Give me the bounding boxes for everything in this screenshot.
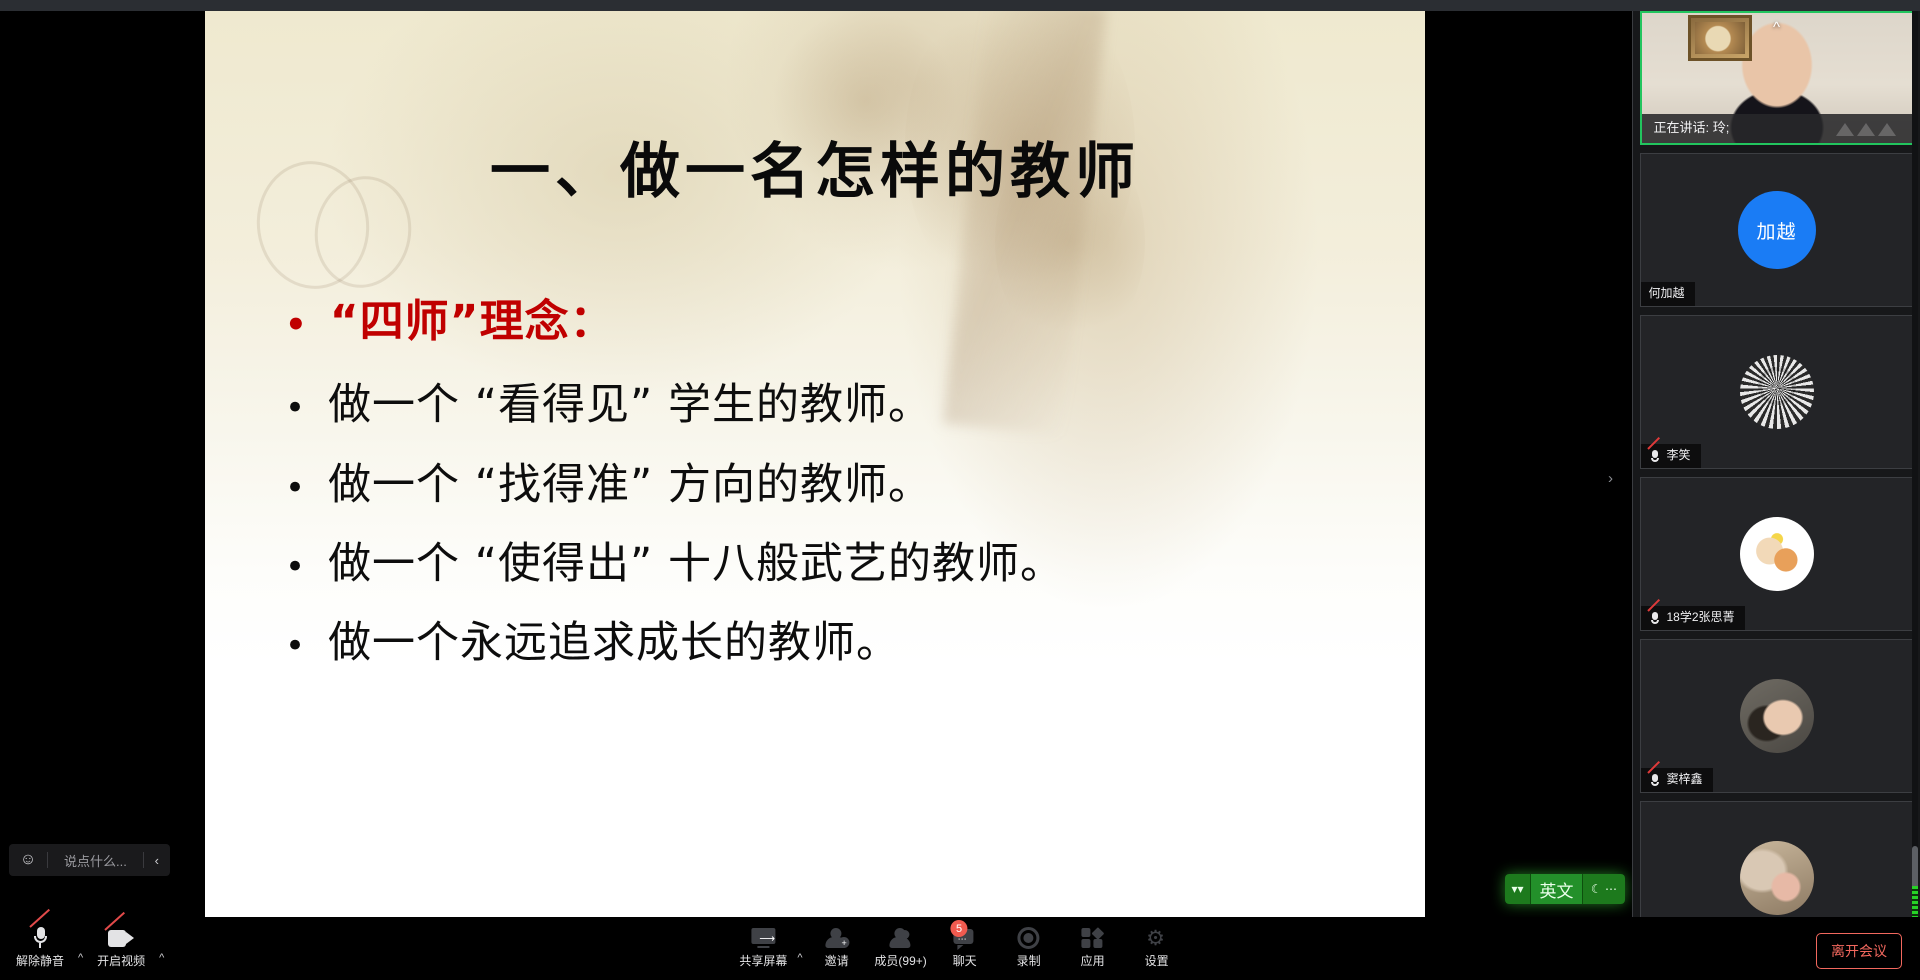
window-top-bar <box>0 0 1920 11</box>
audio-options-chevron-icon[interactable]: ^ <box>76 952 85 970</box>
chat-button[interactable]: ⋯ 5 聊天 <box>933 925 997 970</box>
invite-icon: + <box>826 925 848 951</box>
slide-bullet: • 做一个永远追求成长的教师。 <box>225 613 1405 674</box>
video-options-chevron-icon[interactable]: ^ <box>157 952 166 970</box>
avatar <box>1740 355 1814 429</box>
invite-label: 邀请 <box>825 955 849 968</box>
meeting-window: 锁定画面 一、做一名怎样的教师 • “四师”理念： • 做一个 “看得见” 学生… <box>0 0 1920 980</box>
meeting-toolbar: 解除静音 ^ 开启视频 ^ ⟶ 共享屏幕 ^ + <box>0 917 1920 980</box>
settings-gear-icon: ⚙ <box>1146 925 1167 951</box>
presentation-slide: 一、做一名怎样的教师 • “四师”理念： • 做一个 “看得见” 学生的教师。 … <box>205 11 1425 917</box>
slide-bullet-text: 做一个 “找得准” 方向的教师。 <box>328 455 932 516</box>
invite-button[interactable]: + 邀请 <box>805 925 869 970</box>
bullet-marker: • <box>285 629 306 663</box>
smiley-icon[interactable]: ☺ <box>9 844 47 876</box>
record-button[interactable]: 录制 <box>997 925 1061 970</box>
participants-button[interactable]: 成员(99+) <box>869 925 933 970</box>
share-options-chevron-icon[interactable]: ^ <box>795 952 804 970</box>
share-screen-icon: ⟶ <box>751 925 775 951</box>
participant-tile[interactable]: 加越 何加越 <box>1640 153 1914 307</box>
participants-panel[interactable]: ^ 正在讲话: 玲; 加越 何加越 李笑 18学2张思菁 <box>1632 11 1920 917</box>
slide-bullet: • 做一个 “使得出” 十八般武艺的教师。 <box>225 534 1405 595</box>
participant-name-badge: 何加越 <box>1641 282 1695 306</box>
slide-bullet-list: • “四师”理念： • 做一个 “看得见” 学生的教师。 • 做一个 “找得准”… <box>225 291 1405 692</box>
avatar <box>1740 679 1814 753</box>
share-screen-label: 共享屏幕 <box>739 955 787 968</box>
apps-icon <box>1082 925 1104 951</box>
video-toggle-button[interactable]: 开启视频 <box>89 925 153 970</box>
audio-wave-icon <box>1836 123 1896 136</box>
chevron-up-icon[interactable]: ^ <box>1773 19 1780 36</box>
stage-chat-input-bar[interactable]: ☺ 说点什么... ‹ <box>9 844 170 876</box>
settings-label: 设置 <box>1145 955 1169 968</box>
leave-meeting-button[interactable]: 离开会议 <box>1816 933 1902 969</box>
slide-bullet: • 做一个 “找得准” 方向的教师。 <box>225 455 1405 516</box>
chevron-right-icon[interactable]: › <box>1608 470 1613 487</box>
share-screen-button[interactable]: ⟶ 共享屏幕 <box>731 925 795 970</box>
participant-name: 18学2张思菁 <box>1667 610 1735 626</box>
slide-bullet-text: 做一个 “使得出” 十八般武艺的教师。 <box>328 534 1064 595</box>
slide-title: 一、做一名怎样的教师 <box>205 123 1425 210</box>
chat-input-placeholder[interactable]: 说点什么... <box>48 844 143 876</box>
bullet-marker: • <box>285 308 308 342</box>
double-chevron-down-icon[interactable]: ▾▾ <box>1505 874 1531 904</box>
panel-scrollbar-track[interactable] <box>1912 11 1918 917</box>
chevron-left-icon[interactable]: ‹ <box>144 844 170 876</box>
caption-language-widget[interactable]: ▾▾ 英文 ☾ ⋯ <box>1505 874 1625 904</box>
participant-name: 李笑 <box>1667 448 1691 464</box>
settings-button[interactable]: ⚙ 设置 <box>1125 925 1189 970</box>
participant-tile[interactable]: 李笑 <box>1640 315 1914 469</box>
participant-name-badge: 正在讲话: 玲; <box>1642 114 1912 143</box>
background-picture-frame <box>1688 15 1752 61</box>
mic-off-icon <box>33 925 48 951</box>
participant-tile[interactable]: 窦梓鑫 <box>1640 639 1914 793</box>
slide-bullet-text: 做一个 “看得见” 学生的教师。 <box>328 375 932 436</box>
shared-screen-stage[interactable]: 一、做一名怎样的教师 • “四师”理念： • 做一个 “看得见” 学生的教师。 … <box>0 11 1632 917</box>
mic-off-icon <box>1649 611 1661 625</box>
toolbar-center-group: ⟶ 共享屏幕 ^ + 邀请 成员(99+) ⋯ 5 <box>731 925 1188 970</box>
slide-bullet: • 做一个 “看得见” 学生的教师。 <box>225 375 1405 436</box>
participants-label: 成员(99+) <box>874 955 926 968</box>
avatar <box>1740 841 1814 915</box>
moon-icon[interactable]: ☾ ⋯ <box>1583 874 1625 904</box>
participant-tile[interactable]: 18学2张思菁 <box>1640 477 1914 631</box>
bullet-marker: • <box>285 471 306 505</box>
participant-name-badge: 李笑 <box>1641 444 1701 468</box>
slide-bullet: • “四师”理念： <box>225 291 1405 353</box>
slide-bullet-text: 做一个永远追求成长的教师。 <box>328 613 900 674</box>
avatar: 加越 <box>1738 191 1816 269</box>
apps-button[interactable]: 应用 <box>1061 925 1125 970</box>
toolbar-left-group: 解除静音 ^ 开启视频 ^ <box>8 925 166 970</box>
caption-language-label[interactable]: 英文 <box>1531 874 1583 904</box>
participant-name: 何加越 <box>1649 286 1685 302</box>
mute-toggle-button[interactable]: 解除静音 <box>8 925 72 970</box>
record-icon <box>1018 925 1040 951</box>
avatar <box>1740 517 1814 591</box>
participant-name-badge: 窦梓鑫 <box>1641 768 1713 792</box>
slide-bullet-text: “四师”理念： <box>330 291 615 353</box>
participant-name-badge: 18学2张思菁 <box>1641 606 1745 630</box>
video-toggle-label: 开启视频 <box>97 955 145 968</box>
bullet-marker: • <box>285 550 306 584</box>
bullet-marker: • <box>285 391 306 425</box>
mic-off-icon <box>1649 773 1661 787</box>
chat-label: 聊天 <box>953 955 977 968</box>
camera-off-icon <box>108 925 134 951</box>
record-label: 录制 <box>1017 955 1041 968</box>
participant-name: 正在讲话: 玲; <box>1654 120 1730 137</box>
apps-label: 应用 <box>1081 955 1105 968</box>
mic-off-icon <box>1649 449 1661 463</box>
mute-toggle-label: 解除静音 <box>16 955 64 968</box>
participants-icon <box>890 925 912 951</box>
participant-name: 窦梓鑫 <box>1667 772 1703 788</box>
participant-tile-active-speaker[interactable]: ^ 正在讲话: 玲; <box>1640 11 1914 145</box>
chat-icon: ⋯ 5 <box>954 925 976 951</box>
